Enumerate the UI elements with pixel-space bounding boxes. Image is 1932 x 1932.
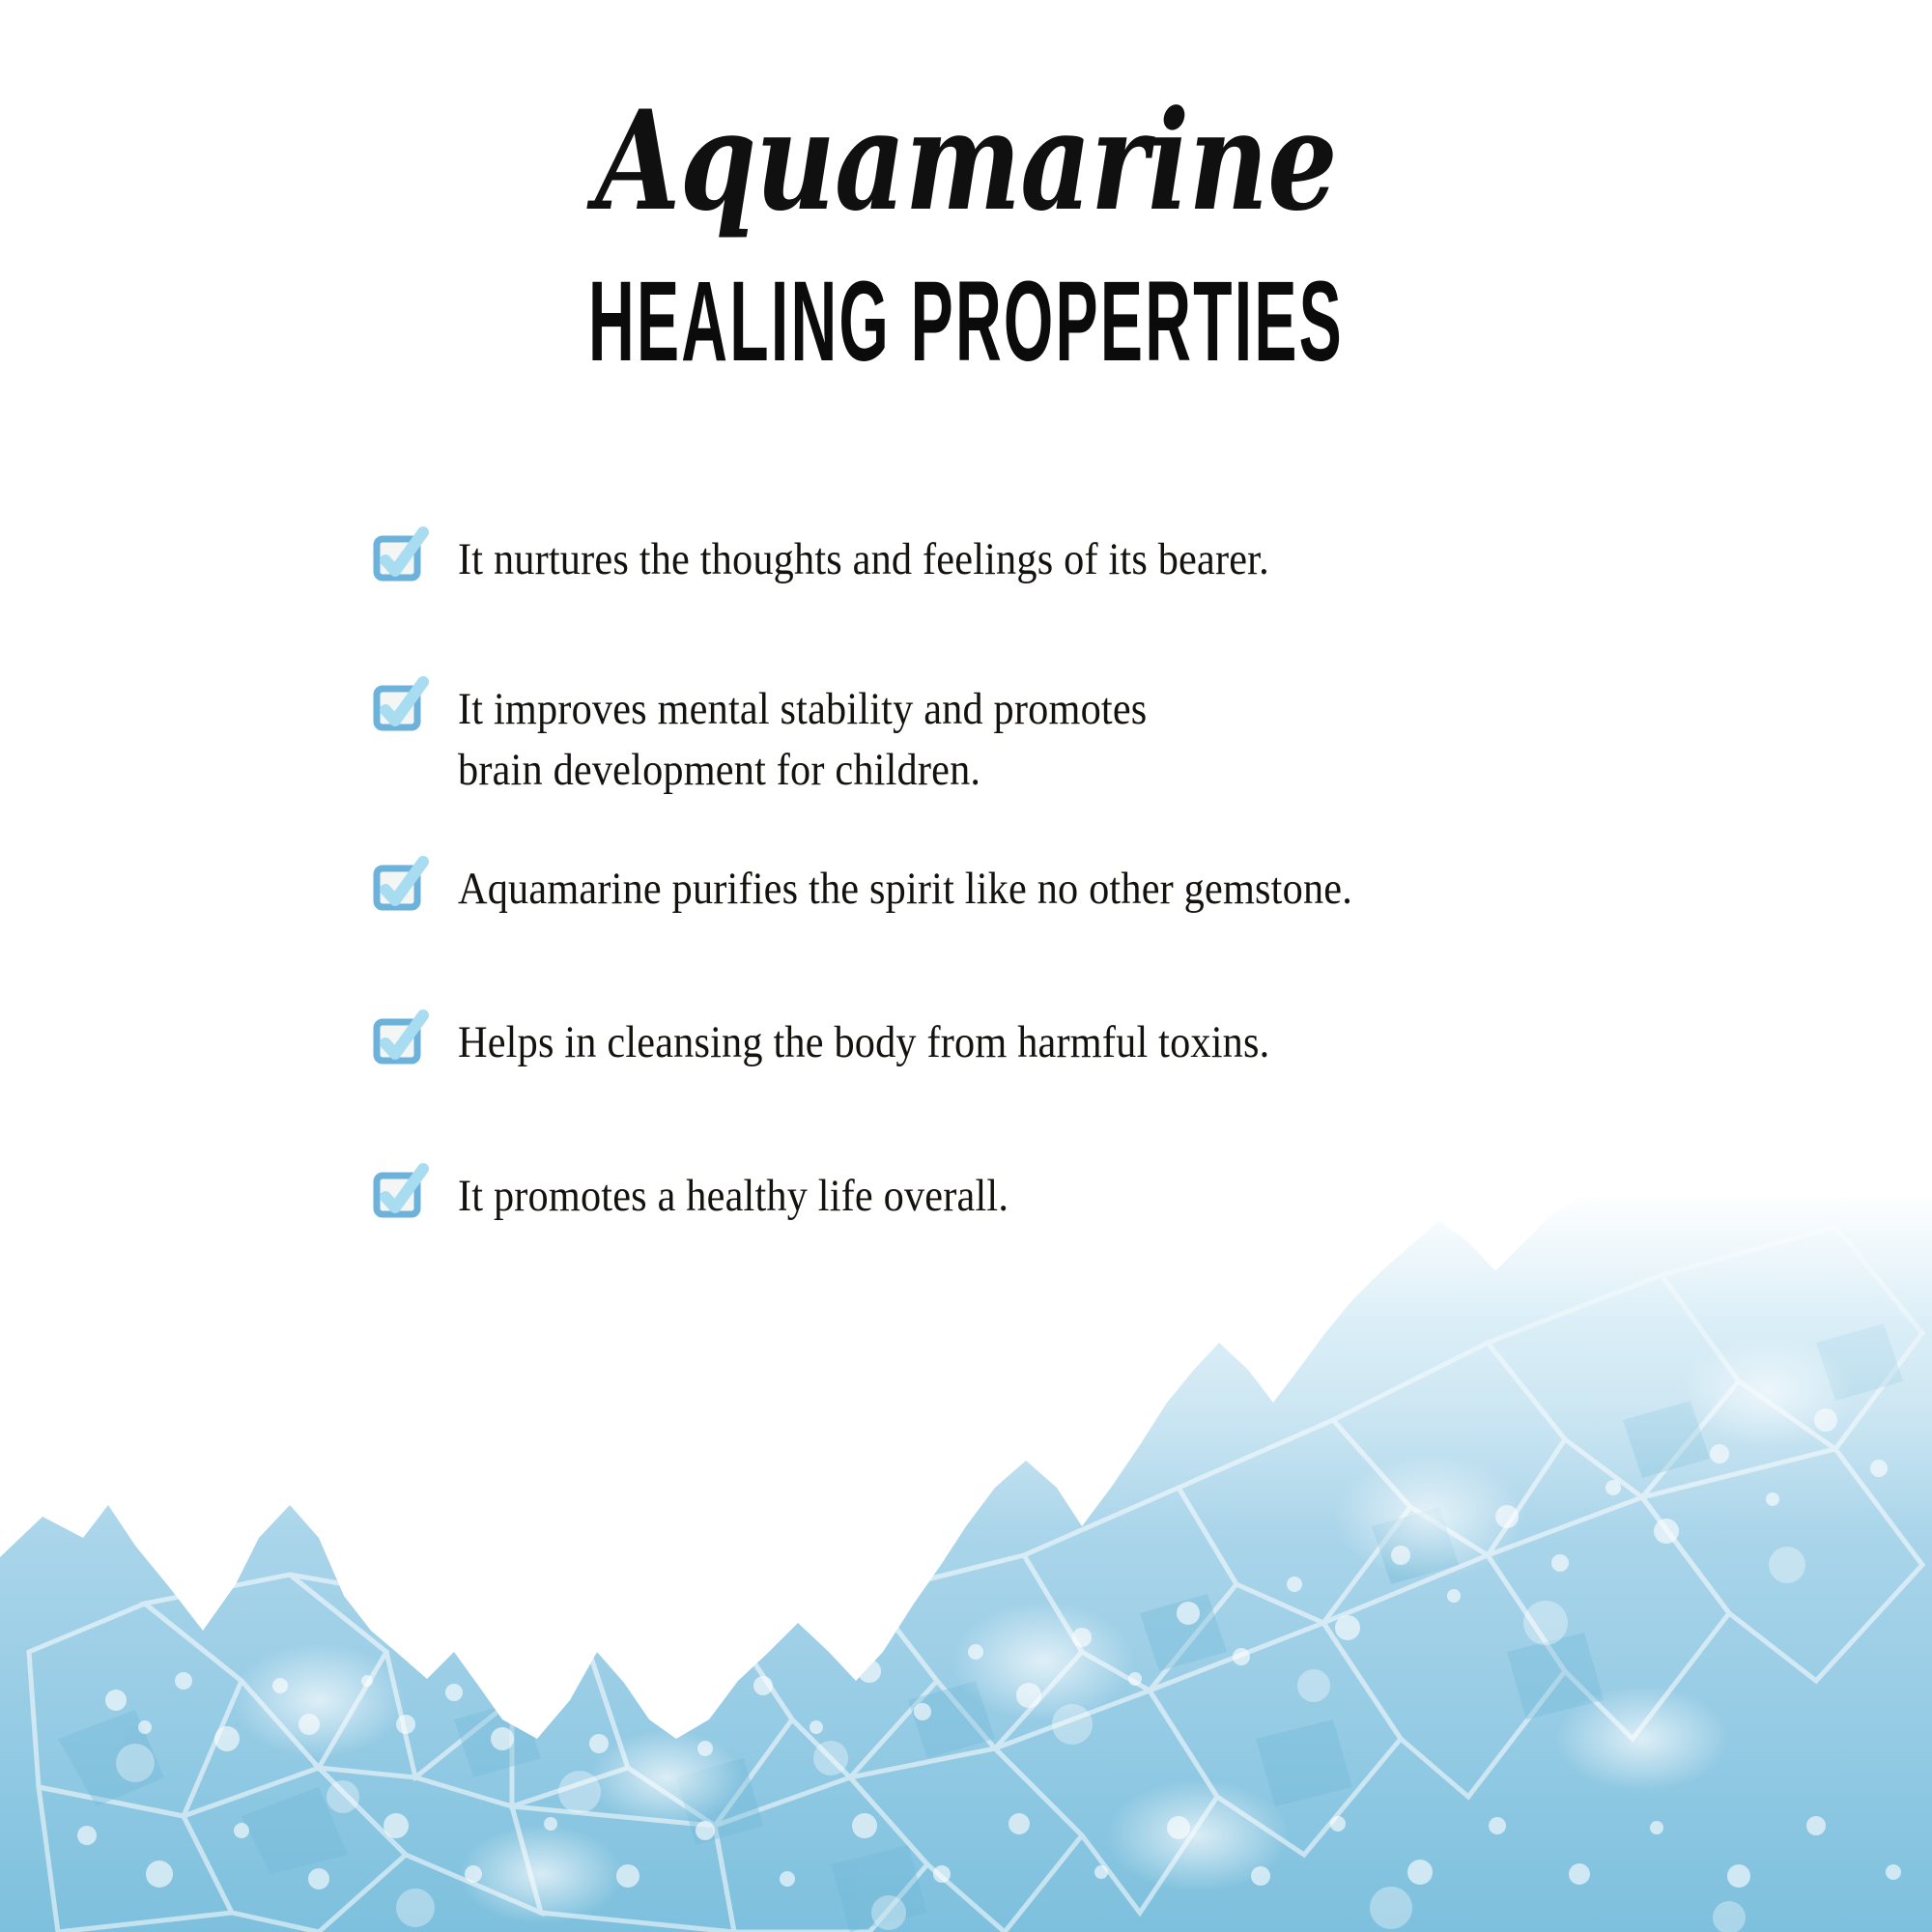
list-item-label: Helps in cleansing the body from harmful… xyxy=(458,1012,1269,1073)
checkbox-checked-icon xyxy=(375,1018,419,1061)
list-item-label: Aquamarine purifies the spirit like no o… xyxy=(458,859,1352,920)
checkbox-checked-icon xyxy=(375,1172,419,1214)
page-subtitle: HEALING PROPERTIES xyxy=(425,265,1507,379)
ice-cubes-photo xyxy=(0,1198,1932,1932)
list-item: It improves mental stability and promote… xyxy=(375,679,1804,801)
checkbox-checked-icon xyxy=(375,535,419,578)
page-title: Aquamarine xyxy=(193,93,1739,230)
checkbox-checked-icon xyxy=(375,865,419,907)
list-item: Aquamarine purifies the spirit like no o… xyxy=(375,859,1804,920)
list-item: Helps in cleansing the body from harmful… xyxy=(375,1012,1804,1073)
poster-canvas: Aquamarine HEALING PROPERTIES It nurture… xyxy=(0,0,1932,1932)
list-item: It promotes a healthy life overall. xyxy=(375,1166,1804,1227)
list-item-label: It nurtures the thoughts and feelings of… xyxy=(458,529,1269,590)
list-item-label: It promotes a healthy life overall. xyxy=(458,1166,1009,1227)
list-item: It nurtures the thoughts and feelings of… xyxy=(375,529,1804,590)
list-item-label: It improves mental stability and promote… xyxy=(458,679,1147,801)
header: Aquamarine HEALING PROPERTIES xyxy=(0,0,1932,379)
checkbox-checked-icon xyxy=(375,685,419,727)
properties-list: It nurtures the thoughts and feelings of… xyxy=(375,529,1804,1227)
